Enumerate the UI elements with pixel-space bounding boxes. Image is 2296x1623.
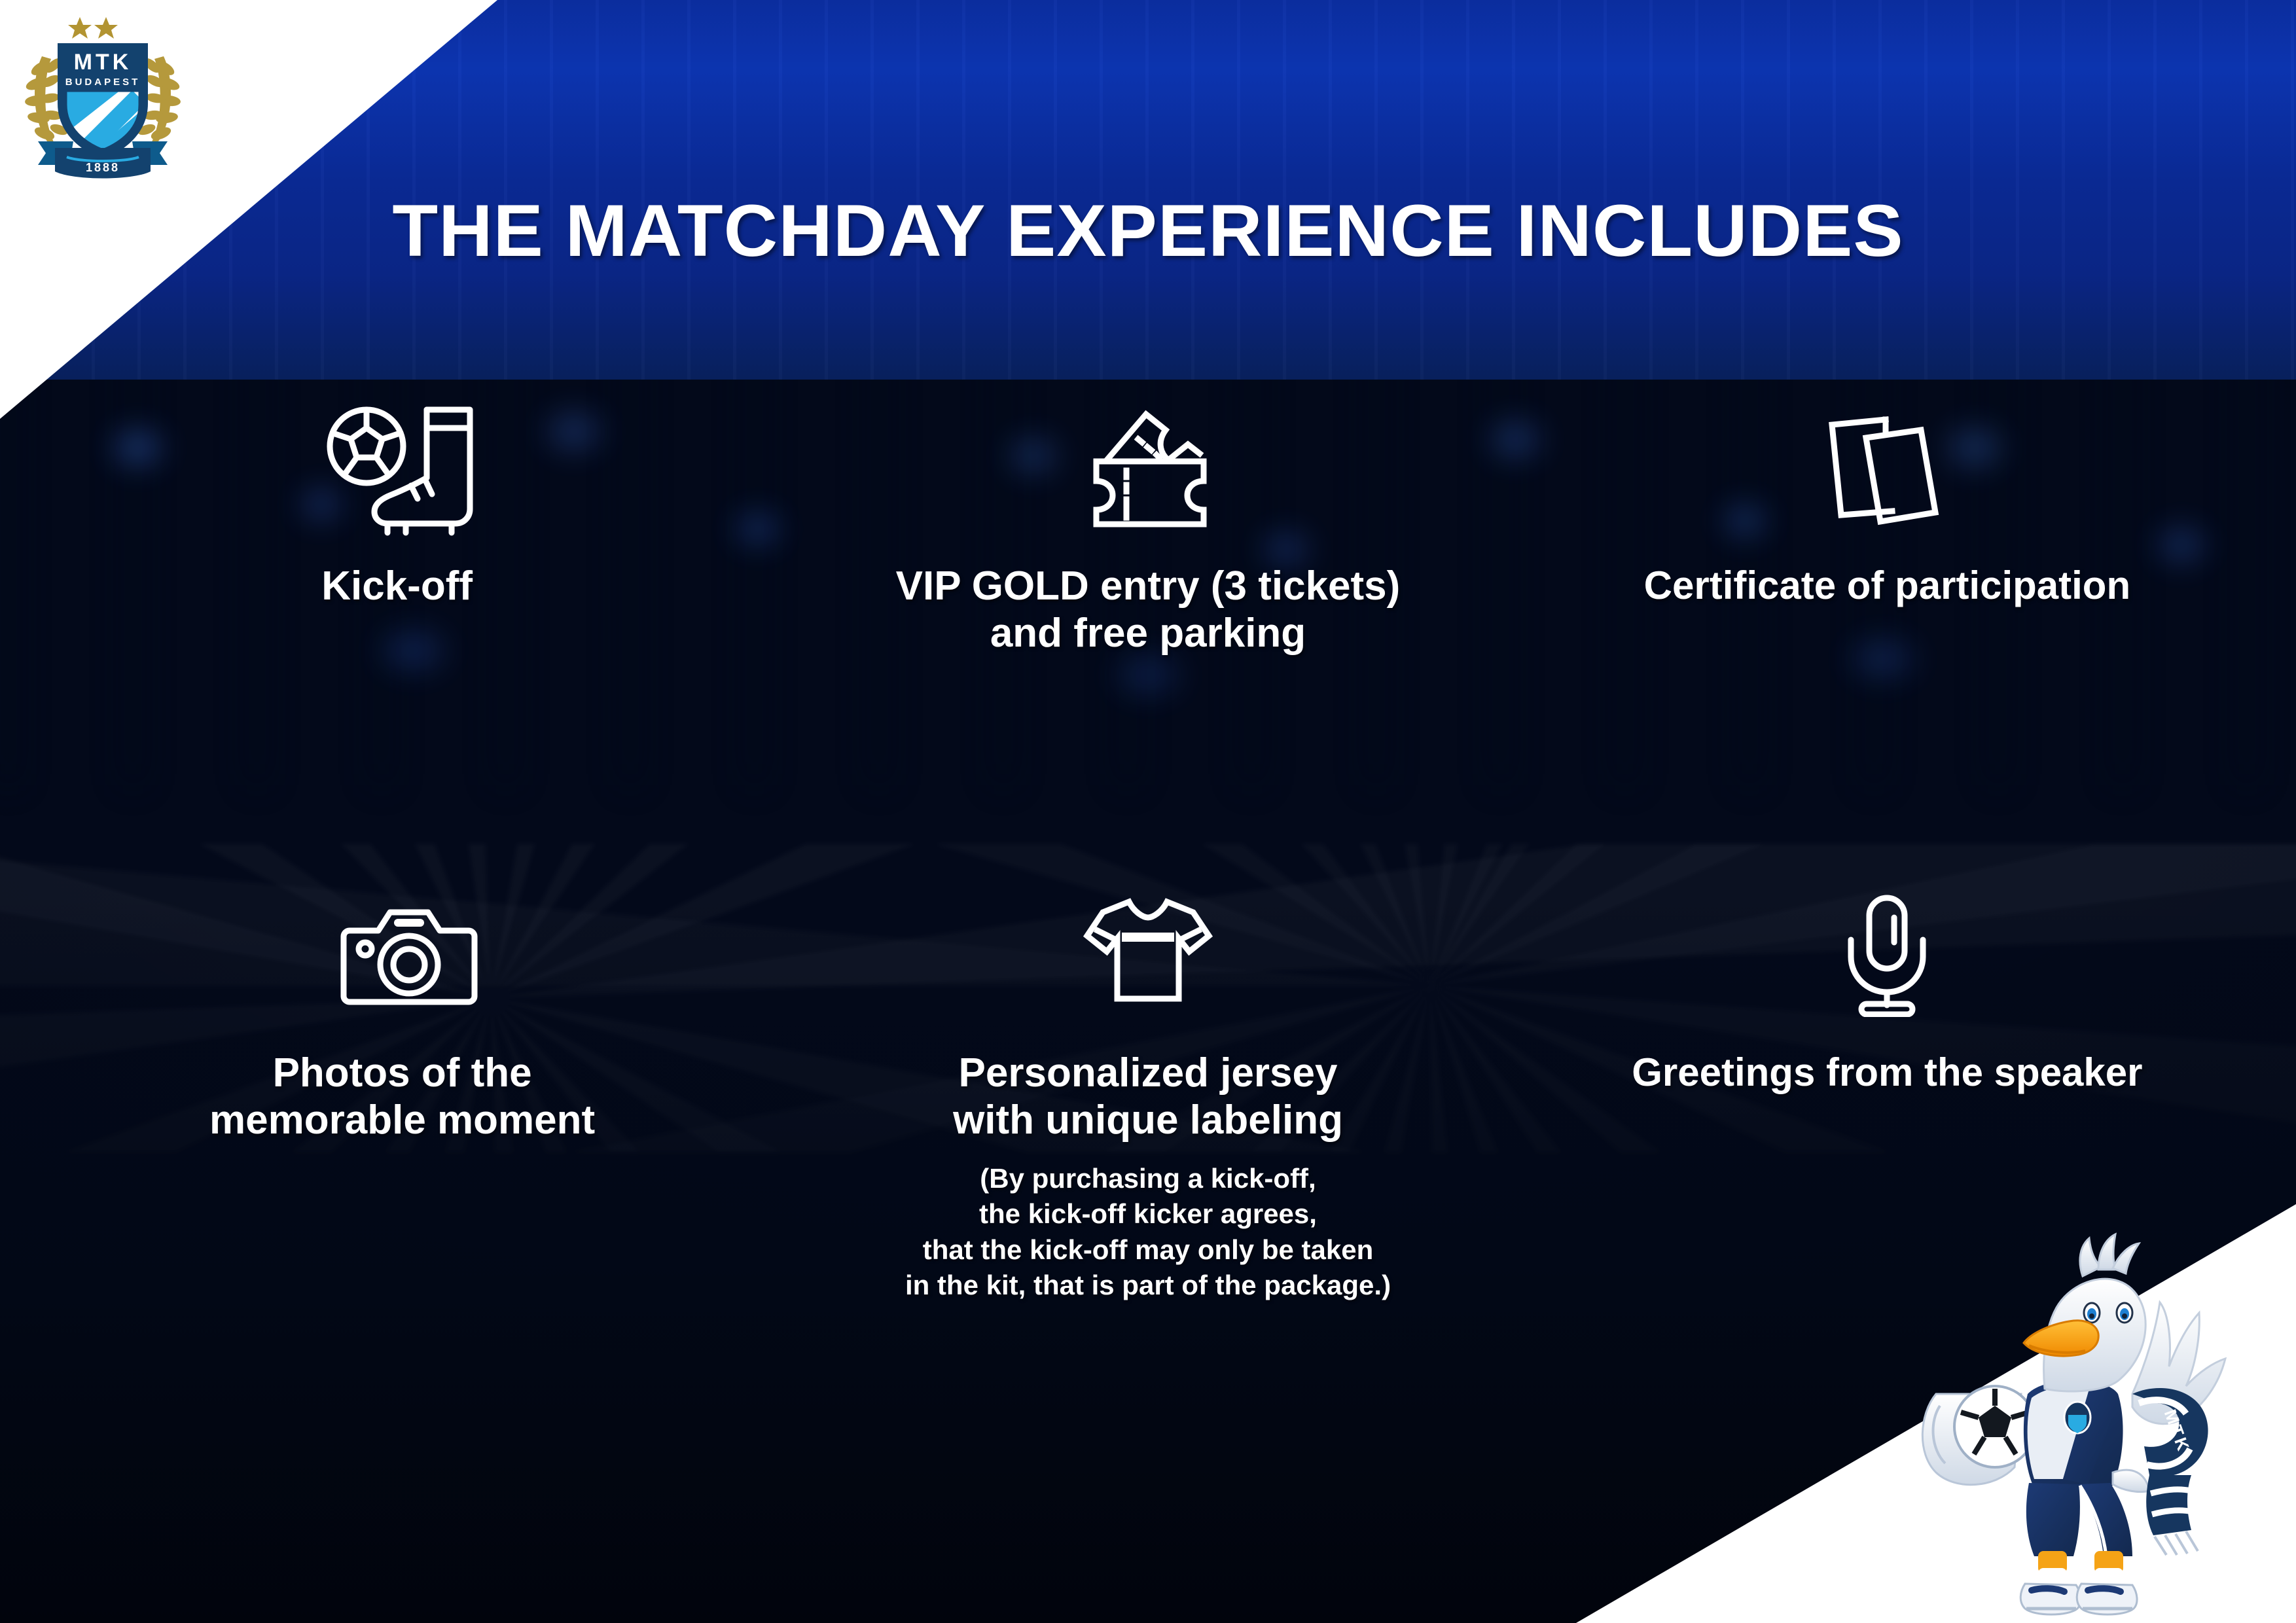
mascot-tail [2113,1470,2149,1491]
mascot-beak [2024,1321,2098,1356]
features-grid: Kick-off [0,393,2296,1304]
feature-photos: Photos of the memorable moment [39,880,778,1144]
football-boot-and-ball-icon [314,393,504,543]
mtk-budapest-crest-logo: MTK BUDAPEST 1888 [14,5,191,182]
tickets-icon [1066,393,1230,543]
feature-label: Kick-off [321,563,473,610]
feature-speaker-greetings: Greetings from the speaker [1518,880,2257,1096]
mascot-shorts [2026,1483,2132,1556]
certificate-documents-icon [1808,393,1965,543]
feature-label: Greetings from the speaker [1632,1050,2142,1096]
mascot-head [2024,1234,2145,1391]
feature-vip-gold-entry: VIP GOLD entry (3 tickets) and free park… [778,393,1517,657]
mtk-duck-mascot: MTK [1916,1198,2283,1623]
crest-stars-icon [68,17,118,39]
crest-mtk-text: MTK [74,50,132,75]
jersey-icon [1078,880,1219,1030]
features-row-1: Kick-off [39,393,2257,657]
mascot-football-icon [1954,1386,2036,1467]
microphone-icon [1838,880,1936,1030]
camera-icon [340,880,478,1030]
mascot-legs-and-shoes [2020,1551,2137,1614]
page-title: THE MATCHDAY EXPERIENCE INCLUDES [0,188,2296,273]
feature-certificate: Certificate of participation [1518,393,2257,609]
feature-label: VIP GOLD entry (3 tickets) and free park… [896,563,1401,657]
crest-year-text: 1888 [86,161,120,174]
matchday-experience-poster: THE MATCHDAY EXPERIENCE INCLUDES [0,0,2296,1623]
feature-kick-off: Kick-off [39,393,778,610]
feature-label: Personalized jersey with unique labeling [953,1050,1343,1144]
mascot-body [2024,1380,2123,1486]
feature-label: Photos of the memorable moment [209,1050,595,1144]
crest-budapest-text: BUDAPEST [65,77,141,88]
feature-personalized-jersey: Personalized jersey with unique labeling… [778,880,1517,1304]
feature-label: Certificate of participation [1644,563,2130,609]
feature-fine-print: (By purchasing a kick-off, the kick-off … [905,1161,1391,1304]
